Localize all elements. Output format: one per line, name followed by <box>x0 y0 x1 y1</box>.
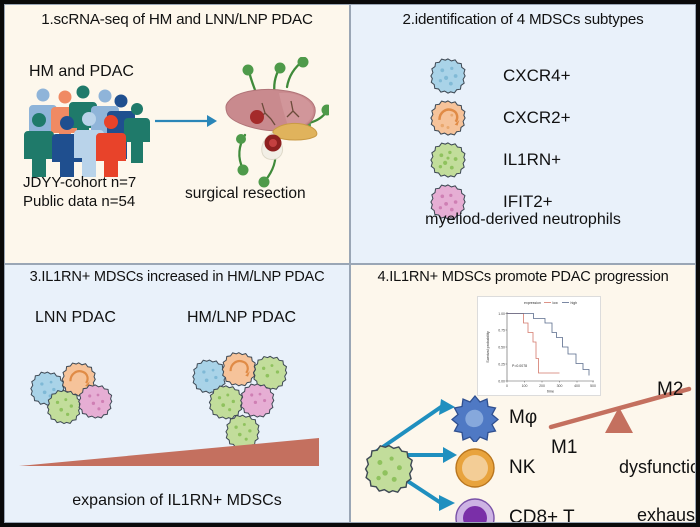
panel-3-group-right: HM/LNP PDAC <box>187 309 296 327</box>
km-legend-high: high <box>571 301 578 305</box>
svg-text:1.00: 1.00 <box>498 312 505 316</box>
panel-1: 1.scRNA-seq of HM and LNN/LNP PDAC HM an… <box>4 4 350 264</box>
cd8-t-cell-icon <box>451 494 499 524</box>
svg-text:0.00: 0.00 <box>498 379 505 383</box>
svg-text:0: 0 <box>506 384 508 388</box>
cohort-line-1: JDYY-cohort n=7 <box>23 173 136 192</box>
mdsc-cell-icon <box>429 99 467 137</box>
lnn-mdsc-cluster <box>25 355 135 435</box>
mdsc-cell-icon <box>429 57 467 95</box>
panel-1-group-label: HM and PDAC <box>29 63 134 81</box>
cohort-line-2: Public data n=54 <box>23 192 136 211</box>
nk-cell-icon <box>451 444 499 492</box>
liver-pancreas-icon <box>217 57 329 189</box>
balance-right-label: M2 <box>657 379 683 401</box>
panel-3-title: 3.IL1RN+ MDSCs increased in HM/LNP PDAC <box>5 269 349 285</box>
target-cell-label: CD8+ T <box>509 507 575 524</box>
panel-3: 3.IL1RN+ MDSCs increased in HM/LNP PDAC … <box>4 264 350 524</box>
panel-4: 4.IL1RN+ MDSCs promote PDAC progression … <box>350 264 696 524</box>
mdsc-subtype-row: IL1RN+ <box>429 141 571 179</box>
mdsc-subtype-list: CXCR4+ CXCR2+ IL1RN+ <box>429 57 571 225</box>
outcome-dysfunction: dysfunction <box>619 457 696 478</box>
svg-text:100: 100 <box>522 384 528 388</box>
panel-1-process-label: surgical resection <box>185 185 306 203</box>
km-legend-title: expression <box>524 301 541 305</box>
target-cell-row: CD8+ T <box>451 493 575 524</box>
svg-text:0.25: 0.25 <box>498 362 505 366</box>
increasing-wedge-icon <box>19 433 319 469</box>
mdsc-subtype-label: IFIT2+ <box>503 192 553 212</box>
panel-2-footer: myeliod-derived neutrophils <box>351 211 695 229</box>
panel-3-group-left: LNN PDAC <box>35 309 116 327</box>
svg-text:200: 200 <box>539 384 545 388</box>
svg-text:0.50: 0.50 <box>498 345 505 349</box>
macrophage-icon <box>451 394 499 442</box>
graphical-abstract: 1.scRNA-seq of HM and LNN/LNP PDAC HM an… <box>0 0 700 527</box>
outcome-exhaust: exhaust <box>637 505 696 524</box>
panel-1-title: 1.scRNA-seq of HM and LNN/LNP PDAC <box>5 11 349 28</box>
panel-4-title: 4.IL1RN+ MDSCs promote PDAC progression <box>351 269 695 285</box>
target-cell-label: NK <box>509 457 535 479</box>
il1rn-mdsc-icon <box>363 443 415 495</box>
km-legend-low: low <box>553 301 559 305</box>
panel-2-title: 2.identification of 4 MDSCs subtypes <box>351 11 695 28</box>
mdsc-subtype-label: IL1RN+ <box>503 150 561 170</box>
mdsc-subtype-row: CXCR2+ <box>429 99 571 137</box>
mdsc-cell-icon <box>429 141 467 179</box>
balance-left-label: M1 <box>551 437 577 459</box>
panel-3-caption: expansion of IL1RN+ MDSCs <box>5 492 349 510</box>
mdsc-subtype-label: CXCR2+ <box>503 108 571 128</box>
mdsc-subtype-label: CXCR4+ <box>503 66 571 86</box>
group-of-people-icon <box>23 85 153 177</box>
target-cell-label: Mφ <box>509 407 537 429</box>
panel-2: 2.identification of 4 MDSCs subtypes CXC… <box>350 4 696 264</box>
km-ylabel: Survival probability <box>486 331 490 363</box>
svg-text:0.75: 0.75 <box>498 328 505 332</box>
mdsc-subtype-row: CXCR4+ <box>429 57 571 95</box>
km-pvalue: P=0.0078 <box>512 364 527 368</box>
panel-1-cohort: JDYY-cohort n=7 Public data n=54 <box>23 173 136 211</box>
right-arrow-icon <box>155 111 217 131</box>
